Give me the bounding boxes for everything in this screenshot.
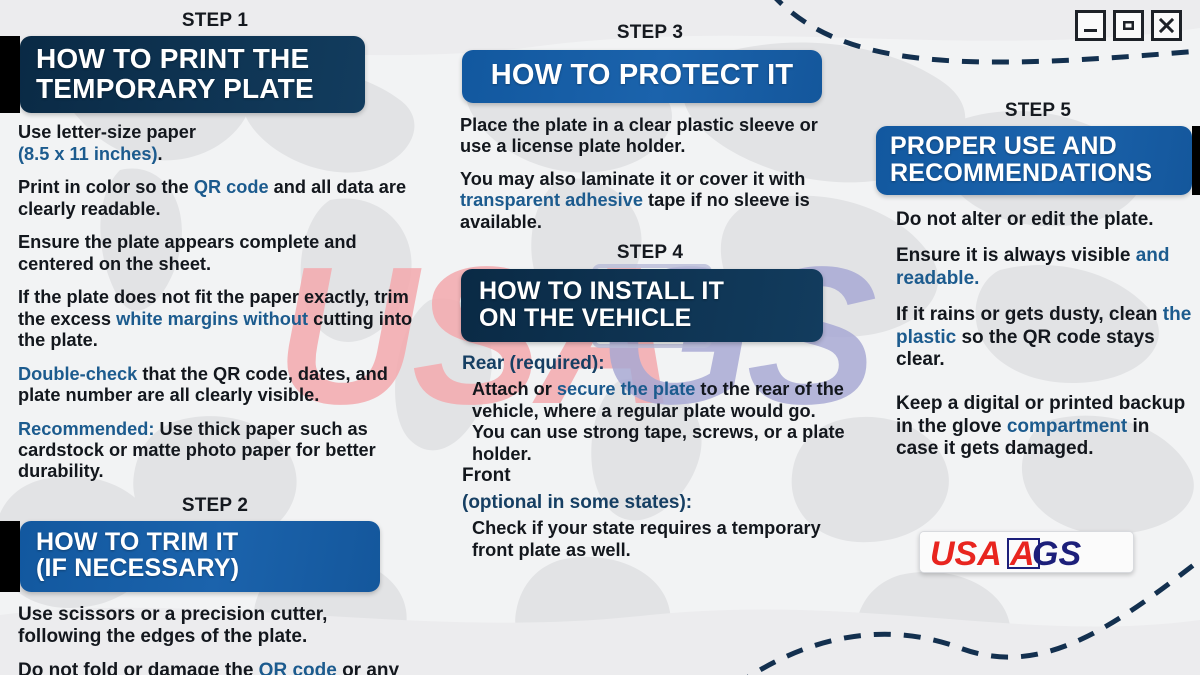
step-5-body: Do not alter or edit the plate.Ensure it…	[876, 195, 1200, 461]
body-paragraph: Do not fold or damage the QR code or any…	[18, 660, 416, 675]
maximize-button[interactable]	[1113, 10, 1144, 41]
step-2-title-line-1: HOW TO TRIM IT	[36, 529, 364, 556]
step-4-paragraph-front: Check if your state requires a temporary…	[462, 518, 848, 561]
step-4-body: Rear (required): Attach or secure the pl…	[452, 342, 848, 561]
window-controls	[1075, 10, 1182, 41]
usags-logo: USA GS A	[919, 531, 1134, 573]
step-5-title-line-2: RECOMMENDATIONS	[890, 160, 1178, 187]
banner-notch-black	[1192, 126, 1200, 195]
step-4-title-banner: HOW TO INSTALL IT ON THE VEHICLE	[461, 269, 823, 342]
step-label-2: STEP 2	[0, 495, 430, 517]
body-paragraph: Print in color so the QR code and all da…	[18, 177, 414, 220]
column-left: STEP 1 HOW TO PRINT THE TEMPORARY PLATE …	[0, 0, 430, 675]
minimize-icon	[1082, 17, 1099, 34]
body-paragraph: Place the plate in a clear plastic sleev…	[460, 115, 846, 158]
step-4-paragraph-tape: You can use strong tape, screws, or a pl…	[462, 422, 848, 465]
body-paragraph: Do not alter or edit the plate.	[896, 209, 1196, 231]
step-1-title-line-2: TEMPORARY PLATE	[36, 74, 349, 104]
banner-notch-black	[0, 521, 20, 592]
step-1-body: Use letter-size paper(8.5 x 11 inches).P…	[0, 113, 430, 483]
step-2-title-line-2: (IF NECESSARY)	[36, 555, 364, 582]
step-5-title-line-1: PROPER USE AND	[890, 133, 1178, 160]
step-5-banner-wrap: PROPER USE AND RECOMMENDATIONS	[876, 126, 1200, 195]
column-right: STEP 5 PROPER USE AND RECOMMENDATIONS Do…	[876, 100, 1200, 475]
body-paragraph: If the plate does not fit the paper exac…	[18, 287, 414, 351]
step-4-paragraph-rear: Attach or secure the plate to the rear o…	[462, 379, 848, 422]
body-paragraph: You may also laminate it or cover it wit…	[460, 169, 846, 233]
body-paragraph: If it rains or gets dusty, clean the pla…	[896, 304, 1196, 371]
column-middle: STEP 3 HOW TO PROTECT IT Place the plate…	[452, 0, 848, 561]
step-4-subheading-front-optional: (optional in some states):	[462, 492, 848, 514]
logo-text-usa: USA	[930, 535, 1002, 573]
step-2-title-banner: HOW TO TRIM IT (IF NECESSARY)	[20, 521, 380, 592]
step-4-title-line-2: ON THE VEHICLE	[479, 305, 805, 332]
step-label-1: STEP 1	[0, 10, 430, 32]
body-paragraph: Use scissors or a precision cutter, foll…	[18, 604, 416, 649]
step-1-title-line-1: HOW TO PRINT THE	[36, 44, 349, 74]
step-4-title-line-1: HOW TO INSTALL IT	[479, 278, 805, 305]
body-paragraph: Ensure the plate appears complete and ce…	[18, 232, 414, 275]
body-paragraph: Double-check that the QR code, dates, an…	[18, 364, 414, 407]
close-button[interactable]	[1151, 10, 1182, 41]
step-4-subheading-rear: Rear (required):	[462, 353, 848, 375]
body-paragraph: You can use strong tape, screws, or a pl…	[472, 422, 848, 465]
usags-logo-svg: USA GS A	[920, 532, 1134, 573]
body-paragraph: Use letter-size paper(8.5 x 11 inches).	[18, 122, 414, 165]
body-paragraph: Recommended: Use thick paper such as car…	[18, 419, 414, 483]
logo-text-a: A	[1009, 535, 1035, 573]
step-2-body: Use scissors or a precision cutter, foll…	[0, 592, 430, 675]
step-label-4: STEP 4	[452, 242, 848, 264]
maximize-icon	[1120, 17, 1137, 34]
step-label-3: STEP 3	[452, 22, 848, 44]
step-4-subheading-front: Front	[462, 465, 848, 487]
body-paragraph: Attach or secure the plate to the rear o…	[472, 379, 848, 422]
body-paragraph: Keep a digital or printed backup in the …	[896, 393, 1196, 460]
body-paragraph: Ensure it is always visible and readable…	[896, 245, 1196, 290]
step-5-title-banner: PROPER USE AND RECOMMENDATIONS	[876, 126, 1192, 195]
banner-notch-black	[0, 36, 20, 113]
step-1-banner-wrap: HOW TO PRINT THE TEMPORARY PLATE	[0, 36, 430, 113]
step-3-body: Place the plate in a clear plastic sleev…	[452, 103, 848, 233]
body-paragraph: Check if your state requires a temporary…	[472, 518, 848, 561]
step-2-banner-wrap: HOW TO TRIM IT (IF NECESSARY)	[0, 521, 430, 592]
step-3-title-line-1: HOW TO PROTECT IT	[478, 60, 806, 91]
step-1-title-banner: HOW TO PRINT THE TEMPORARY PLATE	[20, 36, 365, 113]
close-icon	[1158, 17, 1175, 34]
step-3-title-banner: HOW TO PROTECT IT	[462, 50, 822, 103]
minimize-button[interactable]	[1075, 10, 1106, 41]
step-label-5: STEP 5	[876, 100, 1200, 122]
